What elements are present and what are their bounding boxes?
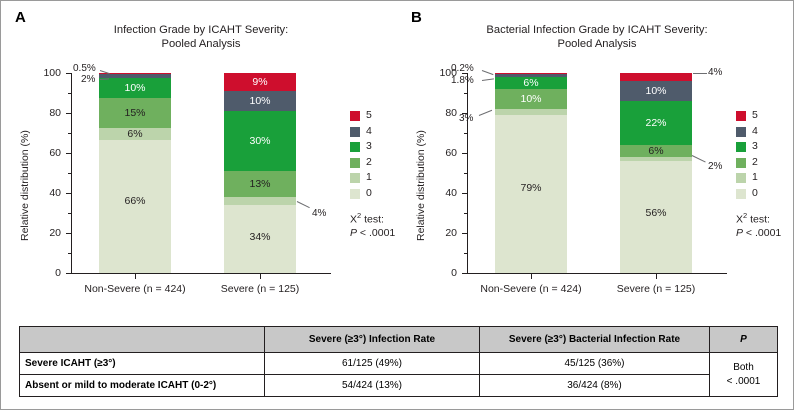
panel-a-legend-label-0: 0 <box>366 187 372 199</box>
panel-b-bar1-label-grade2: 10% <box>495 94 567 105</box>
panel-a: A Infection Grade by ICAHT Severity: Poo… <box>1 1 401 311</box>
table-header-infection-rate: Severe (≥3°) Infection Rate <box>265 327 480 353</box>
table-p-line1: Both <box>715 361 772 375</box>
panel-b-ytick-20 <box>462 233 467 234</box>
panel-b-callout-4: 4% <box>708 67 722 78</box>
table-row: Absent or mild to moderate ICAHT (0-2°) … <box>20 375 778 397</box>
panel-b-plot: 100 80 60 40 20 0 6% 10% 79% <box>467 73 727 273</box>
panel-b-y-axis <box>467 73 468 274</box>
table-row: Severe ICAHT (≥3°) 61/125 (49%) 45/125 (… <box>20 353 778 375</box>
panel-b-stat-pval: < .0001 <box>743 227 781 239</box>
panel-a-xtick-label-severe: Severe (n = 125) <box>205 283 315 295</box>
panel-b-ytick-minor-50 <box>464 173 467 174</box>
legend-swatch-grade3-icon <box>350 142 360 152</box>
panel-a-bar2-label-grade4: 10% <box>224 96 296 107</box>
panel-b-ytick-label-40: 40 <box>431 187 457 199</box>
panel-b-xtick-label-severe: Severe (n = 125) <box>601 283 711 295</box>
panel-a-ytick-label-80: 80 <box>35 107 61 119</box>
panel-b-ytick-minor-10 <box>464 253 467 254</box>
panel-a-plot: 100 80 60 40 20 0 10% 15% <box>71 73 331 273</box>
panel-a-stat-test: X2 test: P < .0001 <box>350 209 395 240</box>
panel-a-xtick-label-non-severe: Non-Severe (n = 424) <box>75 283 195 295</box>
table-p-line2: < .0001 <box>715 375 772 389</box>
panel-b-ytick-label-0: 0 <box>431 267 457 279</box>
legend-swatch-grade4-icon <box>350 127 360 137</box>
panel-b-leader-4 <box>693 73 707 74</box>
rates-table-wrapper: Severe (≥3°) Infection Rate Severe (≥3°)… <box>19 326 777 397</box>
panel-a-ytick-label-60: 60 <box>35 147 61 159</box>
legend-swatch-grade0-icon <box>350 189 360 199</box>
legend-swatch-grade3-icon <box>736 142 746 152</box>
panel-a-bar2-seg-grade0[interactable]: 34% <box>224 205 296 273</box>
panel-a-callout-2: 2% <box>81 74 95 85</box>
table-cell-severe-infection-rate: 61/125 (49%) <box>265 353 480 375</box>
panel-b-stat-testword: test: <box>750 214 770 226</box>
panel-b-callout-2: 2% <box>708 161 722 172</box>
panel-a-stat-pval: < .0001 <box>357 227 395 239</box>
panel-a-bar2-seg-grade5[interactable]: 9% <box>224 73 296 91</box>
panel-b-bar2-seg-grade2[interactable]: 6% <box>620 145 692 157</box>
panel-a-ytick-60 <box>66 153 71 154</box>
panel-b: B Bacterial Infection Grade by ICAHT Sev… <box>399 1 794 311</box>
panel-a-bar1-seg-grade1[interactable]: 6% <box>99 128 171 140</box>
panel-b-ytick-minor-70 <box>464 133 467 134</box>
panel-b-bar1-label-grade3: 6% <box>495 78 567 89</box>
panel-b-callout-1point8: 1.8% <box>451 75 474 86</box>
panel-a-ytick-40 <box>66 193 71 194</box>
rates-table: Severe (≥3°) Infection Rate Severe (≥3°)… <box>19 326 778 397</box>
panel-b-bar2-seg-grade5[interactable] <box>620 73 692 81</box>
panel-a-ytick-20 <box>66 233 71 234</box>
panel-b-ytick-minor-90 <box>464 93 467 94</box>
panel-a-bar2-label-grade5: 9% <box>224 77 296 88</box>
panel-b-legend-label-0: 0 <box>752 187 758 199</box>
panel-b-ytick-label-20: 20 <box>431 227 457 239</box>
panel-a-x-axis <box>71 273 331 274</box>
panel-a-legend-label-3: 3 <box>366 140 372 152</box>
panel-b-bar-non-severe[interactable]: 6% 10% 79% <box>495 73 567 273</box>
panel-b-callout-0point2: 0.2% <box>451 63 474 74</box>
panel-b-bar-severe[interactable]: 10% 22% 6% 56% <box>620 73 692 273</box>
panel-b-ytick-minor-30 <box>464 213 467 214</box>
table-cell-severe-bacterial-rate: 45/125 (36%) <box>480 353 710 375</box>
legend-swatch-grade5-icon <box>736 111 746 121</box>
panel-a-bar2-seg-grade1[interactable] <box>224 197 296 205</box>
table-row-label-severe-icaht: Severe ICAHT (≥3°) <box>20 353 265 375</box>
panel-a-y-axis-label: Relative distribution (%) <box>19 130 31 241</box>
panel-b-legend-label-2: 2 <box>752 156 758 168</box>
panel-b-bar2-label-grade2: 6% <box>620 146 692 157</box>
panel-b-title: Bacterial Infection Grade by ICAHT Sever… <box>399 23 794 51</box>
panel-b-stat-p: P <box>736 227 743 239</box>
legend-swatch-grade4-icon <box>736 127 746 137</box>
panel-b-legend-label-5: 5 <box>752 109 758 121</box>
panel-b-bar1-seg-grade0[interactable]: 79% <box>495 115 567 273</box>
panel-a-bar2-seg-grade4[interactable]: 10% <box>224 91 296 111</box>
panel-b-ytick-60 <box>462 153 467 154</box>
panel-b-xtick-label-non-severe: Non-Severe (n = 424) <box>471 283 591 295</box>
panel-b-ytick-label-60: 60 <box>431 147 457 159</box>
panel-a-legend-label-1: 1 <box>366 171 372 183</box>
panel-b-bar1-label-grade0: 79% <box>495 183 567 194</box>
panel-b-bar1-seg-grade2[interactable]: 10% <box>495 89 567 109</box>
panel-a-xtick-2 <box>260 274 261 279</box>
panel-a-ytick-minor-30 <box>68 213 71 214</box>
table-header-row: Severe (≥3°) Infection Rate Severe (≥3°)… <box>20 327 778 353</box>
panel-a-ytick-minor-90 <box>68 93 71 94</box>
table-cell-p-value: Both < .0001 <box>710 353 778 397</box>
legend-swatch-grade2-icon <box>350 158 360 168</box>
panel-a-bar1-label-grade1: 6% <box>99 129 171 140</box>
panel-a-bar1-label-grade2: 15% <box>99 108 171 119</box>
figure-frame: A Infection Grade by ICAHT Severity: Poo… <box>0 0 794 410</box>
table-header-blank <box>20 327 265 353</box>
panel-a-legend-label-2: 2 <box>366 156 372 168</box>
panel-a-bar1-seg-grade3[interactable]: 10% <box>99 78 171 98</box>
panel-b-bar2-label-grade4: 10% <box>620 86 692 97</box>
table-header-p: P <box>710 327 778 353</box>
legend-swatch-grade5-icon <box>350 111 360 121</box>
panel-a-bar2-label-grade2: 13% <box>224 179 296 190</box>
table-cell-absent-infection-rate: 54/424 (13%) <box>265 375 480 397</box>
legend-swatch-grade1-icon <box>736 173 746 183</box>
panel-b-callout-3: 3% <box>459 113 473 124</box>
panel-a-legend-label-5: 5 <box>366 109 372 121</box>
panel-a-ytick-0 <box>66 273 71 274</box>
panel-b-ytick-label-80: 80 <box>431 107 457 119</box>
panel-a-y-axis <box>71 73 72 274</box>
panel-b-stat-chi: X <box>736 214 743 226</box>
panel-a-stat-sup: 2 <box>357 211 361 220</box>
panel-b-title-line2: Pooled Analysis <box>399 37 794 51</box>
panel-b-bar2-label-grade3: 22% <box>620 118 692 129</box>
panel-a-callout-4: 4% <box>312 208 326 219</box>
panel-a-stat-testword: test: <box>364 214 384 226</box>
panel-a-ytick-80 <box>66 113 71 114</box>
panel-b-legend-label-1: 1 <box>752 171 758 183</box>
panel-b-legend-label-4: 4 <box>752 125 758 137</box>
legend-swatch-grade1-icon <box>350 173 360 183</box>
panel-a-stat-p: P <box>350 227 357 239</box>
panel-b-bar2-seg-grade4[interactable]: 10% <box>620 81 692 101</box>
panel-a-bar2-seg-grade3[interactable]: 30% <box>224 111 296 171</box>
panel-a-ytick-label-0: 0 <box>35 267 61 279</box>
panel-a-bar1-seg-grade0[interactable]: 66% <box>99 140 171 273</box>
panel-a-ytick-label-100: 100 <box>35 67 61 79</box>
panel-a-bar1-seg-grade2[interactable]: 15% <box>99 98 171 128</box>
panel-b-bar2-seg-grade3[interactable]: 22% <box>620 101 692 145</box>
panel-a-legend-label-4: 4 <box>366 125 372 137</box>
panel-a-bar-severe[interactable]: 9% 10% 30% 13% 34% <box>224 73 296 273</box>
panel-b-stat-test: X2 test: P < .0001 <box>736 209 781 240</box>
panel-a-ytick-minor-70 <box>68 133 71 134</box>
panel-b-title-line1: Bacterial Infection Grade by ICAHT Sever… <box>399 23 794 37</box>
panel-a-title-line2: Pooled Analysis <box>1 37 401 51</box>
panel-a-ytick-minor-50 <box>68 173 71 174</box>
panel-b-xtick-2 <box>656 274 657 279</box>
panel-b-bar1-seg-grade3[interactable]: 6% <box>495 77 567 89</box>
panel-a-bar1-label-grade3: 10% <box>99 83 171 94</box>
panel-a-bar-non-severe[interactable]: 10% 15% 6% 66% <box>99 73 171 273</box>
panel-b-stat-sup: 2 <box>743 211 747 220</box>
legend-swatch-grade0-icon <box>736 189 746 199</box>
panel-a-ytick-label-20: 20 <box>35 227 61 239</box>
panel-b-y-axis-label: Relative distribution (%) <box>415 130 427 241</box>
panel-a-bar2-label-grade3: 30% <box>224 136 296 147</box>
panel-b-bar2-label-grade0: 56% <box>620 208 692 219</box>
panel-a-ytick-label-40: 40 <box>35 187 61 199</box>
panel-a-ytick-100 <box>66 73 71 74</box>
panel-a-title-line1: Infection Grade by ICAHT Severity: <box>1 23 401 37</box>
legend-swatch-grade2-icon <box>736 158 746 168</box>
panel-b-ytick-0 <box>462 273 467 274</box>
panel-b-ytick-40 <box>462 193 467 194</box>
panel-b-legend-label-3: 3 <box>752 140 758 152</box>
panel-b-bar2-seg-grade0[interactable]: 56% <box>620 161 692 273</box>
table-header-bacterial-rate: Severe (≥3°) Bacterial Infection Rate <box>480 327 710 353</box>
table-cell-absent-bacterial-rate: 36/424 (8%) <box>480 375 710 397</box>
panel-a-bar2-seg-grade2[interactable]: 13% <box>224 171 296 197</box>
panel-b-xtick-1 <box>531 274 532 279</box>
panel-a-title: Infection Grade by ICAHT Severity: Poole… <box>1 23 401 51</box>
panel-a-bar1-label-grade0: 66% <box>99 196 171 207</box>
panel-a-stat-chi: X <box>350 214 357 226</box>
panel-a-xtick-1 <box>135 274 136 279</box>
panel-a-bar2-label-grade0: 34% <box>224 232 296 243</box>
panel-b-x-axis <box>467 273 727 274</box>
panel-a-callout-0point5: 0.5% <box>73 63 96 74</box>
panel-a-ytick-minor-10 <box>68 253 71 254</box>
table-row-label-absent-mild-icaht: Absent or mild to moderate ICAHT (0-2°) <box>20 375 265 397</box>
